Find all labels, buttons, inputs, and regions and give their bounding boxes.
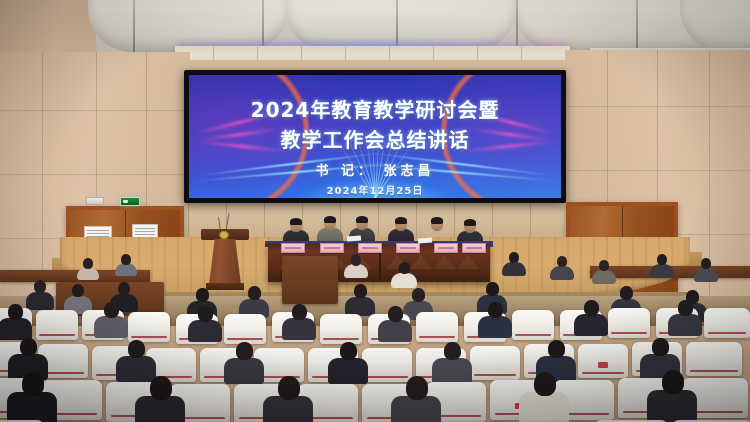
screen-text-block: 2024年教育教学研讨会暨 教学工作会总结讲话 书 记： 张志昌 2024年12… (189, 75, 561, 198)
ceiling-left-return (0, 0, 96, 60)
seat-r1-c2[interactable] (36, 310, 78, 340)
emergency-exit-sign (120, 197, 140, 206)
screen-date-line: 2024年12月25日 (189, 182, 561, 197)
seat-r2-c14[interactable] (686, 342, 742, 376)
podium-emblem-icon (219, 231, 229, 239)
seat-r2-c10[interactable] (470, 346, 520, 380)
led-backdrop-screen: 2024年教育教学研讨会暨 教学工作会总结讲话 书 记： 张志昌 2024年12… (184, 70, 566, 203)
speech-papers (347, 236, 361, 242)
seat-r1-c12[interactable] (512, 310, 554, 340)
seat-r1-c16[interactable] (704, 308, 750, 338)
center-lectern-desk (282, 256, 338, 304)
screen-speaker-line: 书 记： 张志昌 (189, 160, 561, 179)
screen-title-line-1: 2024年教育教学研讨会暨 (189, 94, 561, 123)
ceiling-seam-5 (636, 0, 638, 52)
documents (418, 238, 432, 244)
led-screen-surface: 2024年教育教学研讨会暨 教学工作会总结讲话 书 记： 张志昌 2024年12… (189, 75, 561, 198)
seat-r2-c12[interactable] (578, 344, 628, 378)
seat-r1-c14[interactable] (608, 308, 650, 338)
wall-signage-plate (86, 197, 104, 205)
audience-area (0, 252, 750, 422)
seat-r1-c6[interactable] (224, 314, 266, 344)
seat-r2-c8[interactable] (362, 348, 412, 382)
seat-r1-c10[interactable] (416, 312, 458, 342)
conference-hall-photo: 2024年教育教学研讨会暨 教学工作会总结讲话 书 记： 张志昌 2024年12… (0, 0, 750, 422)
seat-r1-c4[interactable] (128, 312, 170, 342)
screen-title-line-2: 教学工作会总结讲话 (189, 124, 561, 153)
ceiling-seam-1 (133, 0, 135, 52)
seat-r1-c8[interactable] (320, 314, 362, 344)
